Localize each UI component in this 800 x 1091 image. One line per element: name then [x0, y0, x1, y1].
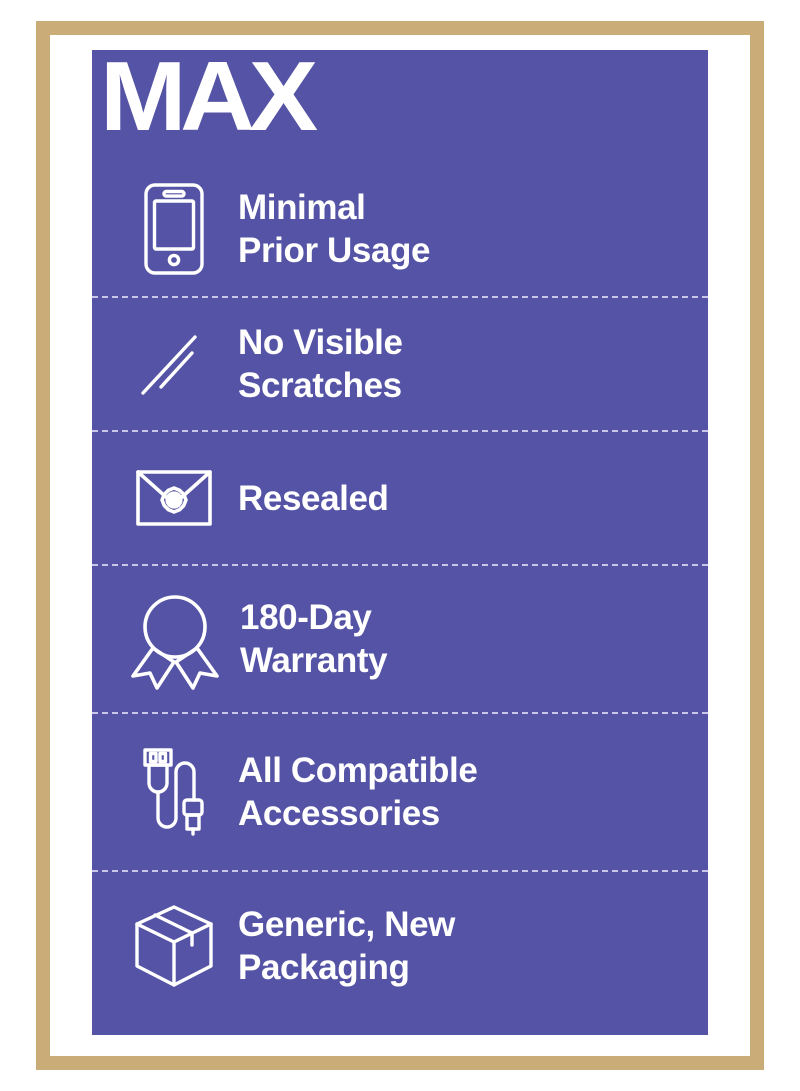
usb-cable-icon — [126, 744, 222, 840]
feature-list: Minimal Prior Usage No Visible Scratches — [92, 162, 708, 1020]
smartphone-icon — [126, 181, 222, 277]
feature-row-no-visible-scratches: No Visible Scratches — [92, 296, 708, 430]
feature-panel: MAX Minimal Prior Usage — [92, 50, 708, 1035]
sealed-envelope-icon — [126, 450, 222, 546]
feature-label: Generic, New Packaging — [238, 903, 455, 989]
feature-label: 180-Day Warranty — [240, 596, 387, 682]
feature-row-accessories: All Compatible Accessories — [92, 712, 708, 870]
feature-label: All Compatible Accessories — [238, 749, 477, 835]
feature-row-minimal-prior-usage: Minimal Prior Usage — [92, 162, 708, 296]
poster: MAX Minimal Prior Usage — [0, 0, 800, 1091]
feature-row-packaging: Generic, New Packaging — [92, 870, 708, 1020]
feature-label: Resealed — [238, 477, 389, 520]
brand-wordmark: MAX — [100, 50, 312, 148]
feature-row-resealed: Resealed — [92, 430, 708, 564]
scratches-icon — [126, 316, 222, 412]
feature-label: Minimal Prior Usage — [238, 186, 430, 272]
award-ribbon-icon — [126, 591, 224, 687]
feature-row-warranty: 180-Day Warranty — [92, 564, 708, 712]
shipping-box-icon — [126, 898, 222, 994]
feature-label: No Visible Scratches — [238, 321, 403, 407]
